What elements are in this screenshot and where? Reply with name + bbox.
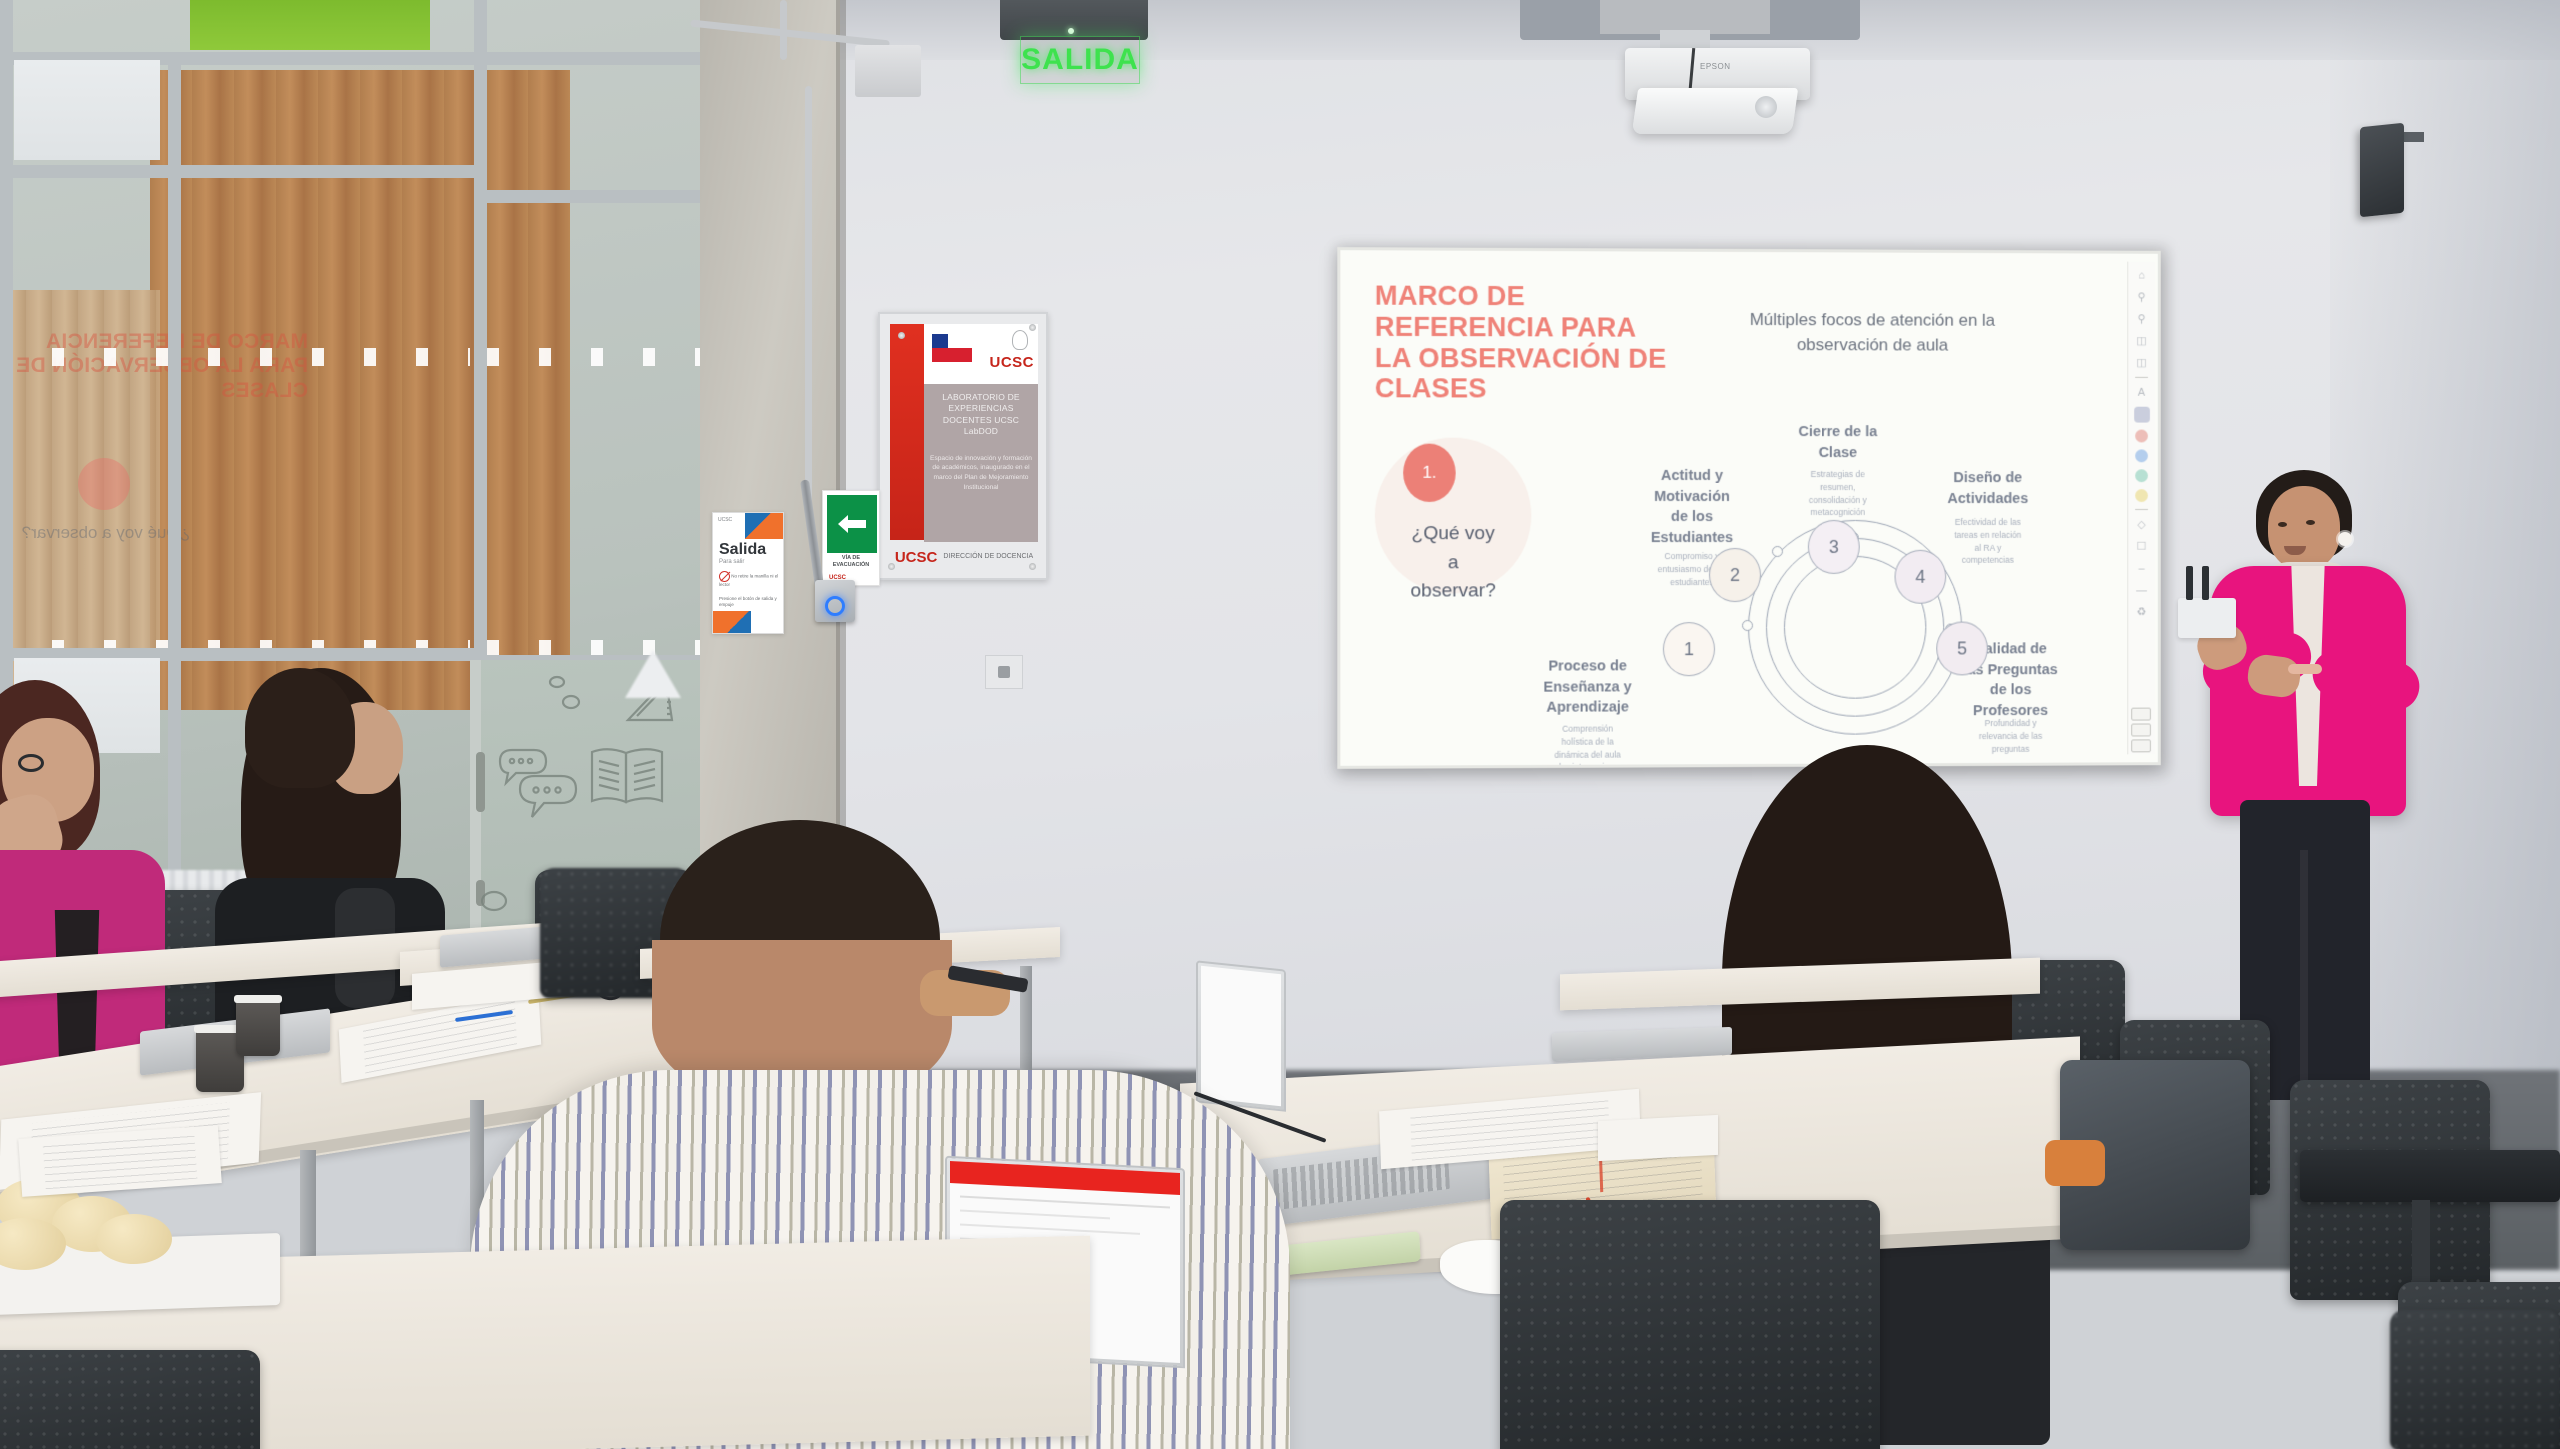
paper-lines [43, 1133, 198, 1190]
evacuation-label: VÍA DE EVACUACIÓN [823, 555, 879, 570]
presenter-bracelet [2288, 664, 2322, 674]
chair[interactable] [0, 1350, 260, 1449]
wall-triangle-sign [625, 650, 681, 698]
electrical-conduit [805, 86, 812, 506]
marker-pen [2202, 566, 2209, 600]
interactive-whiteboard[interactable]: MARCO DE REFERENCIA PARA LA OBSERVACIÓN … [1337, 247, 2160, 769]
plaque-screw [1029, 324, 1036, 331]
bag-accessory [2045, 1140, 2105, 1186]
slide-subtitle: Múltiples focos de atención en la observ… [1728, 308, 2017, 358]
color-swatch-red[interactable] [2135, 430, 2148, 443]
open-book-icon [588, 740, 666, 812]
window-mullion [0, 165, 480, 178]
presenter-eye [2306, 520, 2315, 525]
plaque-title: LABORATORIO DE EXPERIENCIAS DOCENTES UCS… [930, 392, 1032, 426]
classroom-photo: MARCO DE REFERENCIA PARA LA OBSERVACIÓN … [0, 0, 2560, 1449]
window-panel [14, 60, 160, 160]
app-header-bar [950, 1161, 1180, 1195]
plaque-description: Espacio de innovación y formación de aca… [930, 454, 1032, 492]
wall-speaker [2360, 123, 2404, 218]
plaque-screw [888, 563, 895, 570]
window-mullion [480, 190, 720, 203]
sign-subtitle: Para salir [719, 559, 744, 565]
frit-dot-band [487, 348, 717, 366]
wall-outlet-plate [985, 655, 1023, 689]
text-icon[interactable]: A [2134, 385, 2149, 400]
presentation-slide: MARCO DE REFERENCIA PARA LA OBSERVACIÓN … [1340, 250, 2157, 766]
node-3-balloon: 3 [1808, 520, 1860, 574]
cup-lid [234, 995, 282, 1003]
bread-roll [96, 1214, 172, 1264]
node-1-balloon: 1 [1663, 622, 1715, 676]
ring-node [1772, 546, 1783, 557]
app-content-line [960, 1223, 1140, 1234]
evacuation-route-sign: VÍA DE EVACUACIÓN UCSC [822, 490, 880, 586]
node-3-desc: Estrategias de resumen, consolidación y … [1779, 468, 1897, 519]
prohibition-icon [719, 571, 730, 582]
sign-rules: No retire la manilla ni el lector Presio… [719, 571, 779, 609]
circle-icon [545, 672, 585, 718]
sign-rule-2: Presione el botón de salida y empuje [719, 596, 777, 608]
exit-sign-led [1068, 28, 1074, 34]
sign-corner-decor [745, 513, 783, 539]
question-marker: 1. [1403, 444, 1456, 502]
thick-line-icon[interactable]: — [2134, 582, 2149, 597]
green-wall-panel [190, 0, 430, 50]
color-swatch-blue[interactable] [2135, 449, 2148, 462]
exit-instruction-sign: UCSC Salida Para salir No retire la mani… [712, 512, 784, 634]
capture-icon[interactable]: ◫ [2134, 355, 2149, 370]
whiteboard-toolbar[interactable]: ⌂ ⚲ ⚲ ◫ ◫ A ◇ ☐ – — ♻ [2127, 262, 2155, 755]
sign-corner-decor [713, 611, 751, 633]
plaque-footer: UCSC DIRECCIÓN DE DOCENCIA [890, 542, 1038, 572]
page-thumbnail[interactable] [2131, 708, 2151, 721]
zoom-in-icon[interactable]: ⚲ [2134, 289, 2149, 304]
sign-brand: UCSC [718, 517, 732, 523]
eyeglasses [18, 754, 44, 772]
university-seal-icon [1012, 330, 1028, 350]
node-2-title: Actitud y Motivación de los Estudiantes [1631, 466, 1753, 548]
papers[interactable] [1598, 1115, 1718, 1161]
evacuation-green-field [827, 495, 877, 553]
projector-brand-label: EPSON [1700, 62, 1731, 71]
toolbar-divider [2135, 509, 2148, 510]
node-4-title: Diseño de Actividades [1928, 468, 2047, 509]
speech-bubbles-icon [494, 745, 584, 827]
coffee-cup[interactable] [236, 1000, 280, 1056]
door-handle[interactable] [476, 752, 485, 812]
ring-node [1742, 620, 1753, 631]
plaque-footer-unit: DIRECCIÓN DE DOCENCIA [943, 552, 1033, 561]
projector-lens [1755, 96, 1777, 118]
plaque-red-bar [890, 324, 924, 540]
app-content-line [960, 1209, 1110, 1219]
select-icon[interactable]: ☐ [2134, 539, 2149, 554]
presenter-head [2268, 486, 2340, 570]
papers[interactable] [18, 1125, 222, 1197]
exit-sign-mount [1000, 0, 1148, 40]
projector-ceiling-mount [1600, 0, 1770, 34]
page-icon[interactable]: ◫ [2134, 333, 2149, 348]
exit-button-ring-icon [825, 596, 845, 616]
node-5-balloon: 5 [1936, 622, 1988, 676]
whiteboard-page-controls[interactable] [2128, 708, 2154, 753]
color-swatch-green[interactable] [2135, 469, 2148, 482]
page-thumbnail[interactable] [2131, 723, 2151, 736]
electrical-conduit [780, 0, 787, 60]
node-4-balloon: 4 [1895, 550, 1947, 604]
chair[interactable] [2390, 1310, 2560, 1449]
plaque-body: LABORATORIO DE EXPERIENCIAS DOCENTES UCS… [924, 384, 1038, 544]
node-3-title: Cierre de la Clase [1779, 422, 1897, 463]
table-leg [300, 1150, 316, 1270]
plaque-screw [898, 332, 905, 339]
pen-color-selected[interactable] [2134, 407, 2150, 423]
presenter-earring [2338, 532, 2352, 546]
node-1-desc: Comprensión holística de la dinámica del… [1524, 722, 1651, 768]
side-table [2300, 1150, 2560, 1202]
node-2-balloon: 2 [1709, 548, 1761, 602]
home-icon[interactable]: ⌂ [2134, 268, 2149, 283]
exit-release-button[interactable] [815, 580, 855, 622]
page-thumbnail[interactable] [2131, 739, 2151, 752]
plaque-screw [1029, 563, 1036, 570]
chair[interactable] [1500, 1200, 1880, 1449]
wall-outlet-socket [998, 666, 1010, 678]
venue-plaque: UCSC LABORATORIO DE EXPERIENCIAS DOCENTE… [878, 312, 1048, 580]
exit-sign-label: SALIDA [1021, 45, 1139, 75]
plaque-subtitle: LabDOD [930, 426, 1032, 437]
plaque-footer-brand: UCSC [895, 549, 938, 566]
marker-pen [2186, 566, 2193, 600]
marker-tray [2178, 598, 2236, 638]
frit-dot-band [0, 348, 470, 366]
attendee-hair-front [245, 668, 355, 788]
wall-device-box [855, 45, 921, 97]
thin-line-icon[interactable]: – [2134, 561, 2149, 576]
presenter-eye [2278, 522, 2287, 527]
plaque-brand: UCSC [989, 354, 1034, 371]
eraser-icon[interactable]: ◇ [2134, 517, 2149, 532]
trash-icon[interactable]: ♻ [2134, 604, 2149, 619]
toolbar-divider [2135, 377, 2148, 378]
app-content-line [960, 1195, 1170, 1208]
sign-title: Salida [719, 541, 766, 559]
color-swatch-yellow[interactable] [2135, 489, 2148, 502]
question-text: ¿Qué voy a observar? [1375, 520, 1532, 606]
node-1-title: Proceso de Enseñanza y Aprendizaje [1522, 656, 1653, 718]
left-arrow-icon [835, 512, 869, 536]
chile-flag-canton [932, 334, 948, 348]
presenter-trouser-seam [2300, 850, 2308, 1100]
paper-lines [1410, 1097, 1609, 1161]
illuminated-exit-sign: SALIDA [1020, 36, 1140, 84]
zoom-out-icon[interactable]: ⚲ [2134, 311, 2149, 326]
